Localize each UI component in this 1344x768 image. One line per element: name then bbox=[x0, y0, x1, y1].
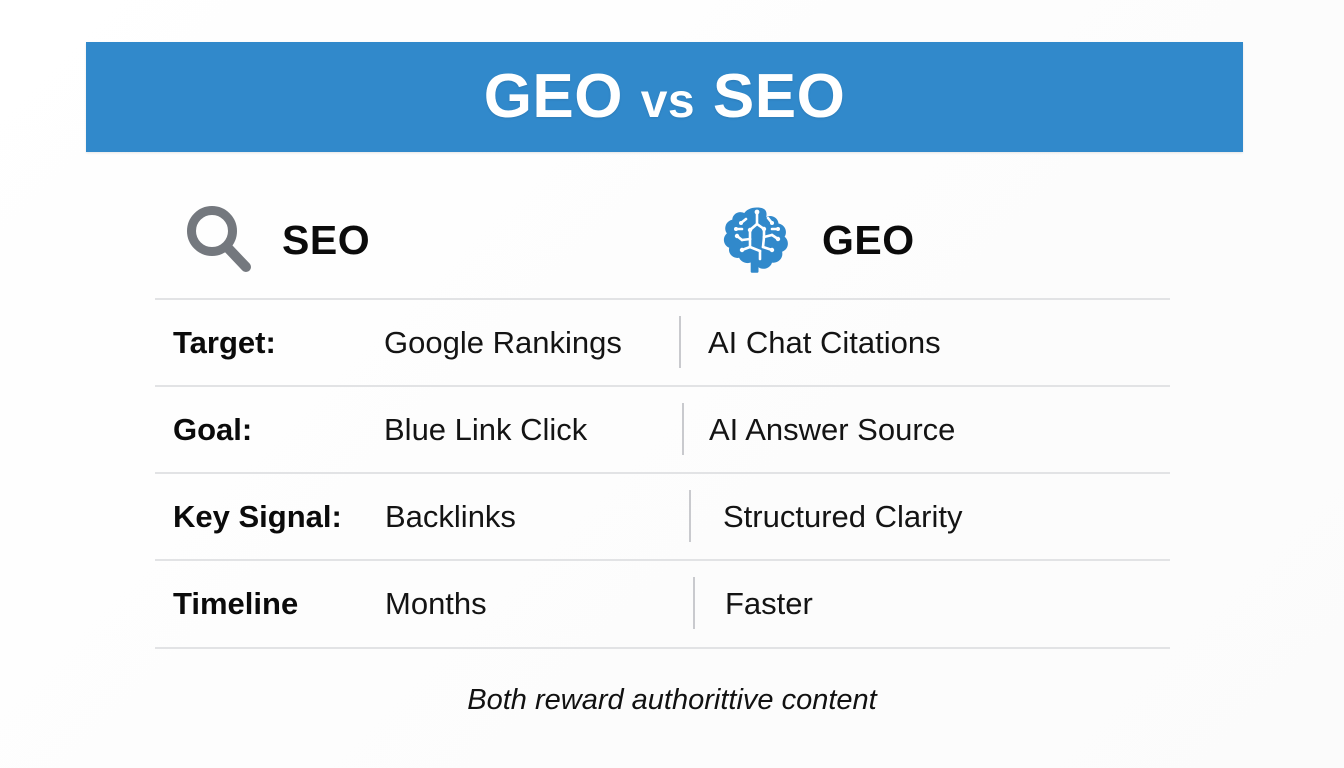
title-banner: GEO vs SEO bbox=[86, 42, 1243, 152]
page-title-geo: GEO bbox=[484, 62, 623, 131]
column-header-geo-label: GEO bbox=[822, 220, 915, 261]
page-title-vs: vs bbox=[641, 75, 695, 128]
row-label: Timeline bbox=[173, 586, 298, 622]
column-divider bbox=[689, 490, 691, 542]
column-divider bbox=[682, 403, 684, 455]
table-row: Key Signal: Backlinks Structured Clarity bbox=[155, 472, 1170, 559]
column-divider bbox=[679, 316, 681, 368]
column-headers: SEO bbox=[155, 185, 1170, 298]
row-value-seo: Backlinks bbox=[385, 499, 516, 535]
column-header-seo: SEO bbox=[182, 203, 370, 277]
row-value-geo: Faster bbox=[725, 586, 813, 622]
footnote: Both reward authorittive content bbox=[0, 684, 1344, 717]
column-header-geo: GEO bbox=[718, 203, 915, 277]
column-divider bbox=[693, 577, 695, 629]
row-label: Key Signal: bbox=[173, 499, 342, 535]
row-value-geo: AI Chat Citations bbox=[708, 325, 941, 361]
table-row: Target: Google Rankings AI Chat Citation… bbox=[155, 298, 1170, 385]
row-label: Goal: bbox=[173, 412, 252, 448]
row-value-seo: Months bbox=[385, 586, 487, 622]
page-title: GEO vs SEO bbox=[484, 66, 846, 128]
comparison-table: Target: Google Rankings AI Chat Citation… bbox=[155, 298, 1170, 649]
row-value-geo: AI Answer Source bbox=[709, 412, 955, 448]
row-value-geo: Structured Clarity bbox=[723, 499, 962, 535]
column-header-seo-label: SEO bbox=[282, 220, 370, 261]
row-value-seo: Google Rankings bbox=[384, 325, 622, 361]
table-row: Timeline Months Faster bbox=[155, 559, 1170, 649]
brain-circuit-icon bbox=[718, 203, 796, 277]
row-label: Target: bbox=[173, 325, 276, 361]
magnifying-glass-icon bbox=[182, 203, 256, 277]
table-row: Goal: Blue Link Click AI Answer Source bbox=[155, 385, 1170, 472]
page-title-seo: SEO bbox=[713, 62, 845, 131]
row-value-seo: Blue Link Click bbox=[384, 412, 587, 448]
